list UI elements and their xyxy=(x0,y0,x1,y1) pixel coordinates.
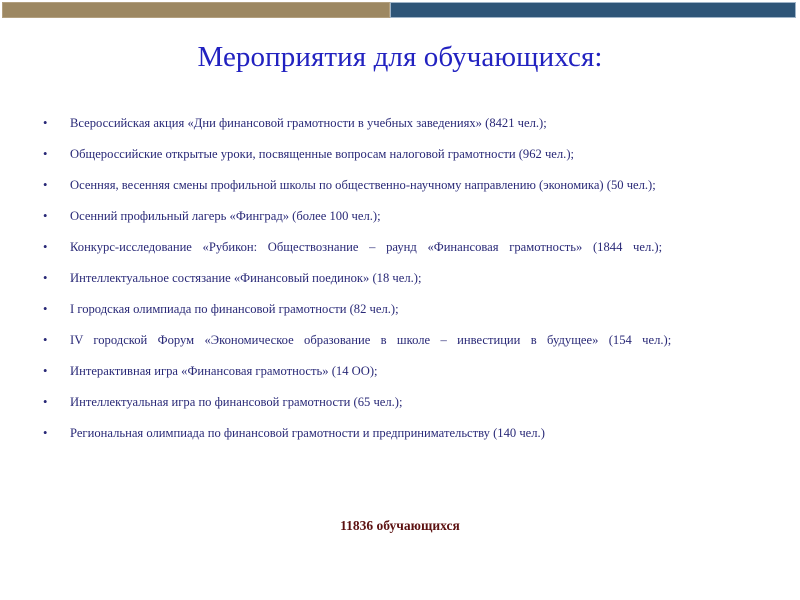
bullet-icon: • xyxy=(43,206,47,228)
list-item-text: Осенний профильный лагерь «Финград» (бол… xyxy=(70,206,766,228)
bullet-icon: • xyxy=(43,113,47,135)
list-item-text: Общероссийские открытые уроки, посвященн… xyxy=(70,144,766,166)
bullet-icon: • xyxy=(43,268,47,290)
bullet-icon: • xyxy=(43,361,47,383)
slide-title: Мероприятия для обучающихся: xyxy=(0,41,800,74)
list-item-text: Интеллектуальная игра по финансовой грам… xyxy=(70,392,766,414)
list-item-text: Осенняя, весенняя смены профильной школы… xyxy=(70,175,766,197)
bullet-icon: • xyxy=(43,144,47,166)
list-item: • Интеллектуальное состязание «Финансовы… xyxy=(38,268,766,290)
list-item: • IV городской Форум «Экономическое обра… xyxy=(38,330,766,352)
top-banner xyxy=(2,2,796,18)
bullet-icon: • xyxy=(43,175,47,197)
list-item: • Осенний профильный лагерь «Финград» (б… xyxy=(38,206,766,228)
list-item: • Всероссийская акция «Дни финансовой гр… xyxy=(38,113,766,135)
bullet-icon: • xyxy=(43,330,47,352)
list-item-text: Конкурс-исследование «Рубикон: Обществоз… xyxy=(70,237,766,259)
list-item: • Региональная олимпиада по финансовой г… xyxy=(38,423,766,445)
bullet-icon: • xyxy=(43,299,47,321)
bullet-icon: • xyxy=(43,392,47,414)
total-participants-label: 11836 обучающихся xyxy=(0,518,800,534)
list-item: • Общероссийские открытые уроки, посвяще… xyxy=(38,144,766,166)
bullet-icon: • xyxy=(43,423,47,445)
bullet-icon: • xyxy=(43,237,47,259)
list-item-text: Региональная олимпиада по финансовой гра… xyxy=(70,423,766,445)
list-item-text: IV городской Форум «Экономическое образо… xyxy=(70,330,766,352)
list-item-text: Всероссийская акция «Дни финансовой грам… xyxy=(70,113,766,135)
list-item: • Интеллектуальная игра по финансовой гр… xyxy=(38,392,766,414)
list-item: • Интерактивная игра «Финансовая грамотн… xyxy=(38,361,766,383)
list-item-text: Интерактивная игра «Финансовая грамотнос… xyxy=(70,361,766,383)
list-item-text: Интеллектуальное состязание «Финансовый … xyxy=(70,268,766,290)
list-item-text: I городская олимпиада по финансовой грам… xyxy=(70,299,766,321)
list-item: • Конкурс-исследование «Рубикон: Обществ… xyxy=(38,237,766,259)
list-item: • Осенняя, весенняя смены профильной шко… xyxy=(38,175,766,197)
banner-segment-blue xyxy=(390,2,796,18)
events-bullet-list: • Всероссийская акция «Дни финансовой гр… xyxy=(38,113,766,454)
banner-segment-tan xyxy=(2,2,390,18)
list-item: • I городская олимпиада по финансовой гр… xyxy=(38,299,766,321)
